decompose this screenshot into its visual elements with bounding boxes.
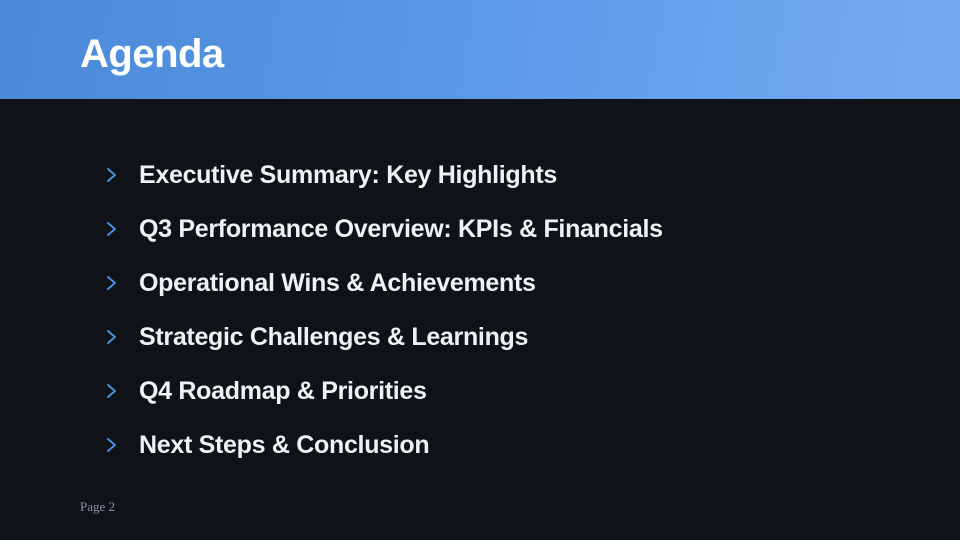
list-item[interactable]: Strategic Challenges & Learnings — [104, 320, 528, 354]
chevron-right-icon — [104, 327, 120, 347]
page-title: Agenda — [80, 30, 224, 78]
chevron-right-icon — [104, 165, 120, 185]
agenda-item-label: Q4 Roadmap & Priorities — [139, 374, 427, 408]
agenda-item-label: Executive Summary: Key Highlights — [139, 158, 557, 192]
list-item[interactable]: Operational Wins & Achievements — [104, 266, 536, 300]
chevron-right-icon — [104, 381, 120, 401]
chevron-right-icon — [104, 273, 120, 293]
chevron-right-icon — [104, 219, 120, 239]
agenda-item-label: Strategic Challenges & Learnings — [139, 320, 528, 354]
agenda-item-label: Next Steps & Conclusion — [139, 428, 429, 462]
agenda-item-label: Operational Wins & Achievements — [139, 266, 536, 300]
list-item[interactable]: Q3 Performance Overview: KPIs & Financia… — [104, 212, 663, 246]
page-number-label: Page 2 — [80, 498, 115, 516]
list-item[interactable]: Next Steps & Conclusion — [104, 428, 429, 462]
chevron-right-icon — [104, 435, 120, 455]
slide-header-band: Agenda — [0, 0, 960, 99]
agenda-list: Executive Summary: Key Highlights Q3 Per… — [0, 99, 960, 540]
list-item[interactable]: Q4 Roadmap & Priorities — [104, 374, 427, 408]
agenda-item-label: Q3 Performance Overview: KPIs & Financia… — [139, 212, 663, 246]
list-item[interactable]: Executive Summary: Key Highlights — [104, 158, 557, 192]
presentation-slide: Agenda Executive Summary: Key Highlights… — [0, 0, 960, 540]
